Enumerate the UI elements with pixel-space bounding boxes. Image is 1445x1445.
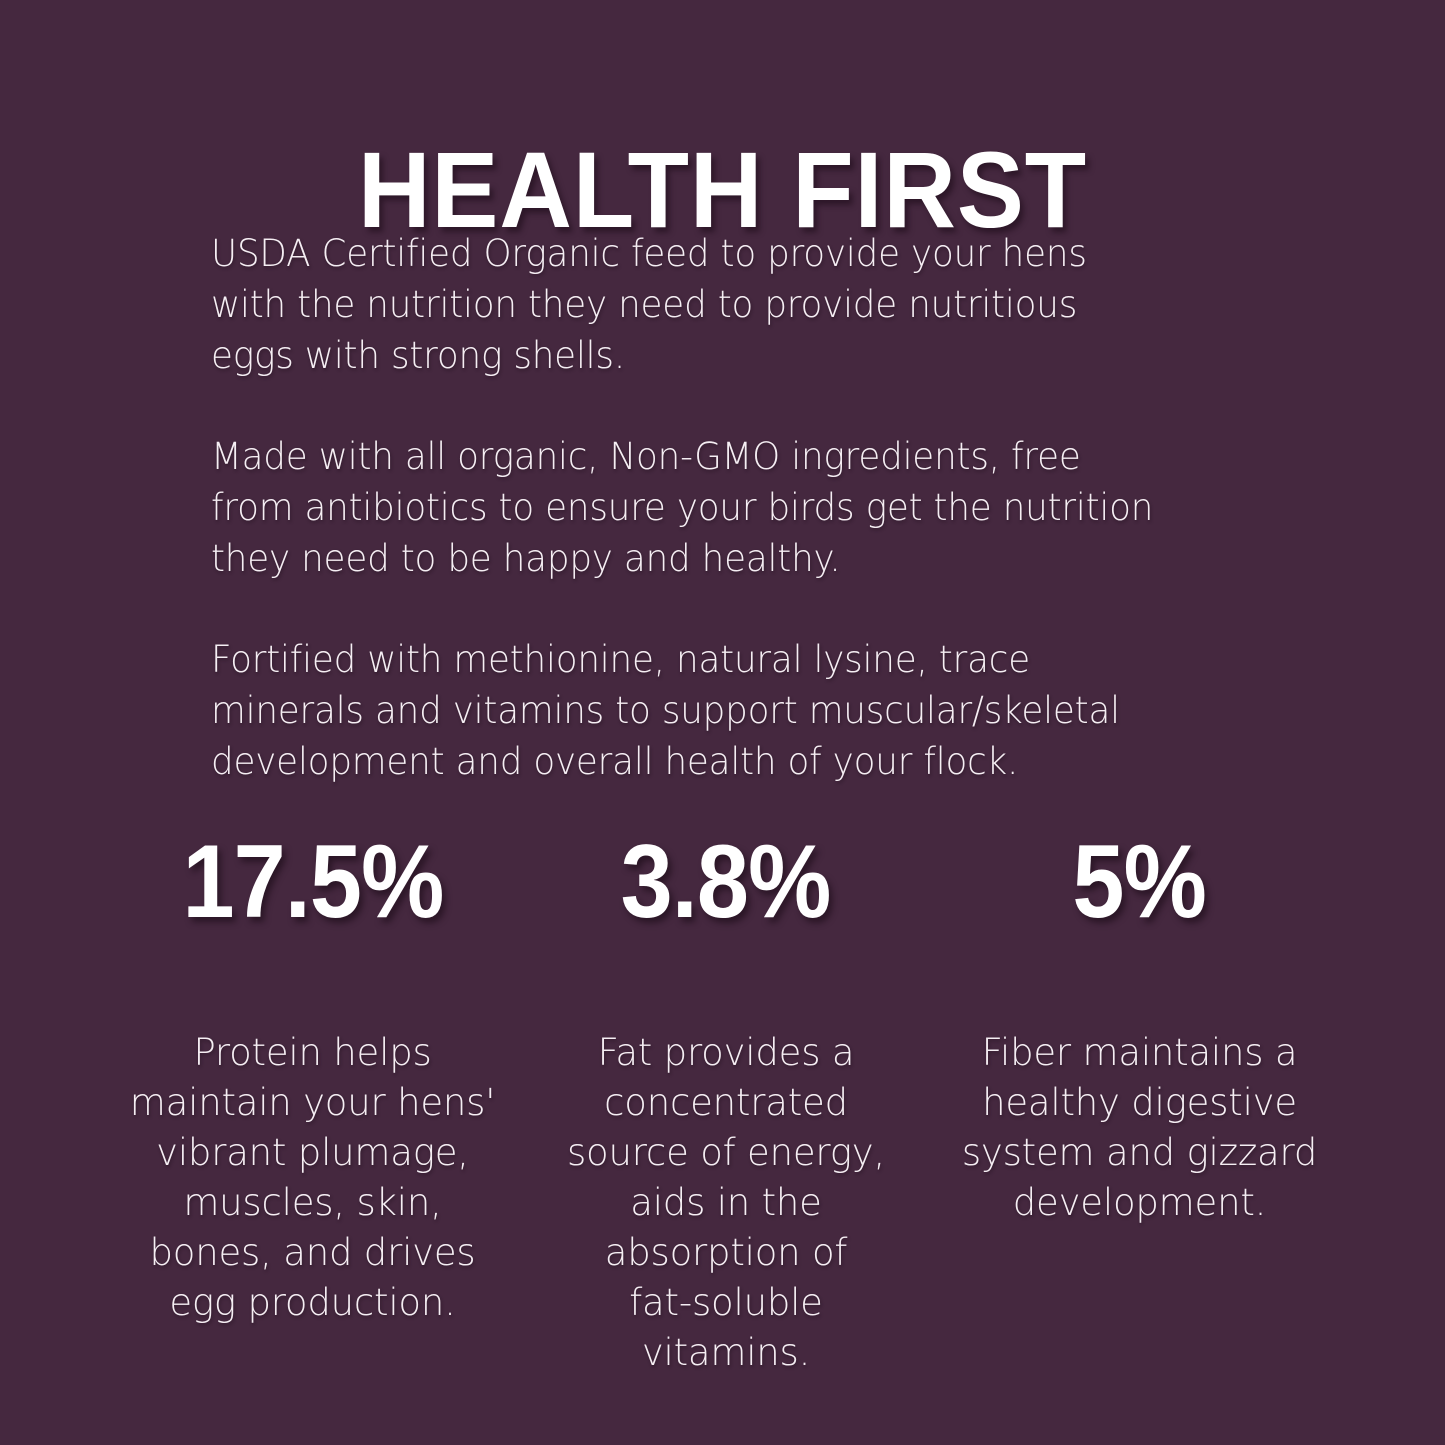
- caption-text-fat: Fat provides aconcentratedsource of ener…: [520, 1028, 933, 1378]
- stat-protein: 17.5%: [106, 826, 519, 938]
- body-paragraph: Fortified with methionine, natural lysin…: [211, 634, 1234, 787]
- caption-protein: Protein helpsmaintain your hens'vibrant …: [106, 1028, 519, 1328]
- caption-fat: Fat provides aconcentratedsource of ener…: [520, 1028, 933, 1378]
- stat-value-fiber: 5%: [1073, 826, 1206, 938]
- caption-text-fiber: Fiber maintains ahealthy digestivesystem…: [933, 1028, 1346, 1228]
- body-paragraph: USDA Certified Organic feed to provide y…: [211, 228, 1234, 381]
- nutrition-stats-row: 17.5% 3.8% 5%: [106, 826, 1346, 938]
- health-first-poster: HEALTH FIRST USDA Certified Organic feed…: [0, 0, 1445, 1445]
- stat-fiber: 5%: [933, 826, 1346, 938]
- body-copy: USDA Certified Organic feed to provide y…: [211, 228, 1271, 787]
- nutrition-captions-row: Protein helpsmaintain your hens'vibrant …: [106, 1028, 1346, 1378]
- body-paragraph: Made with all organic, Non-GMO ingredien…: [211, 431, 1234, 584]
- stat-fat: 3.8%: [520, 826, 933, 938]
- stat-value-protein: 17.5%: [182, 826, 443, 938]
- caption-fiber: Fiber maintains ahealthy digestivesystem…: [933, 1028, 1346, 1228]
- caption-text-protein: Protein helpsmaintain your hens'vibrant …: [106, 1028, 519, 1328]
- stat-value-fat: 3.8%: [621, 826, 831, 938]
